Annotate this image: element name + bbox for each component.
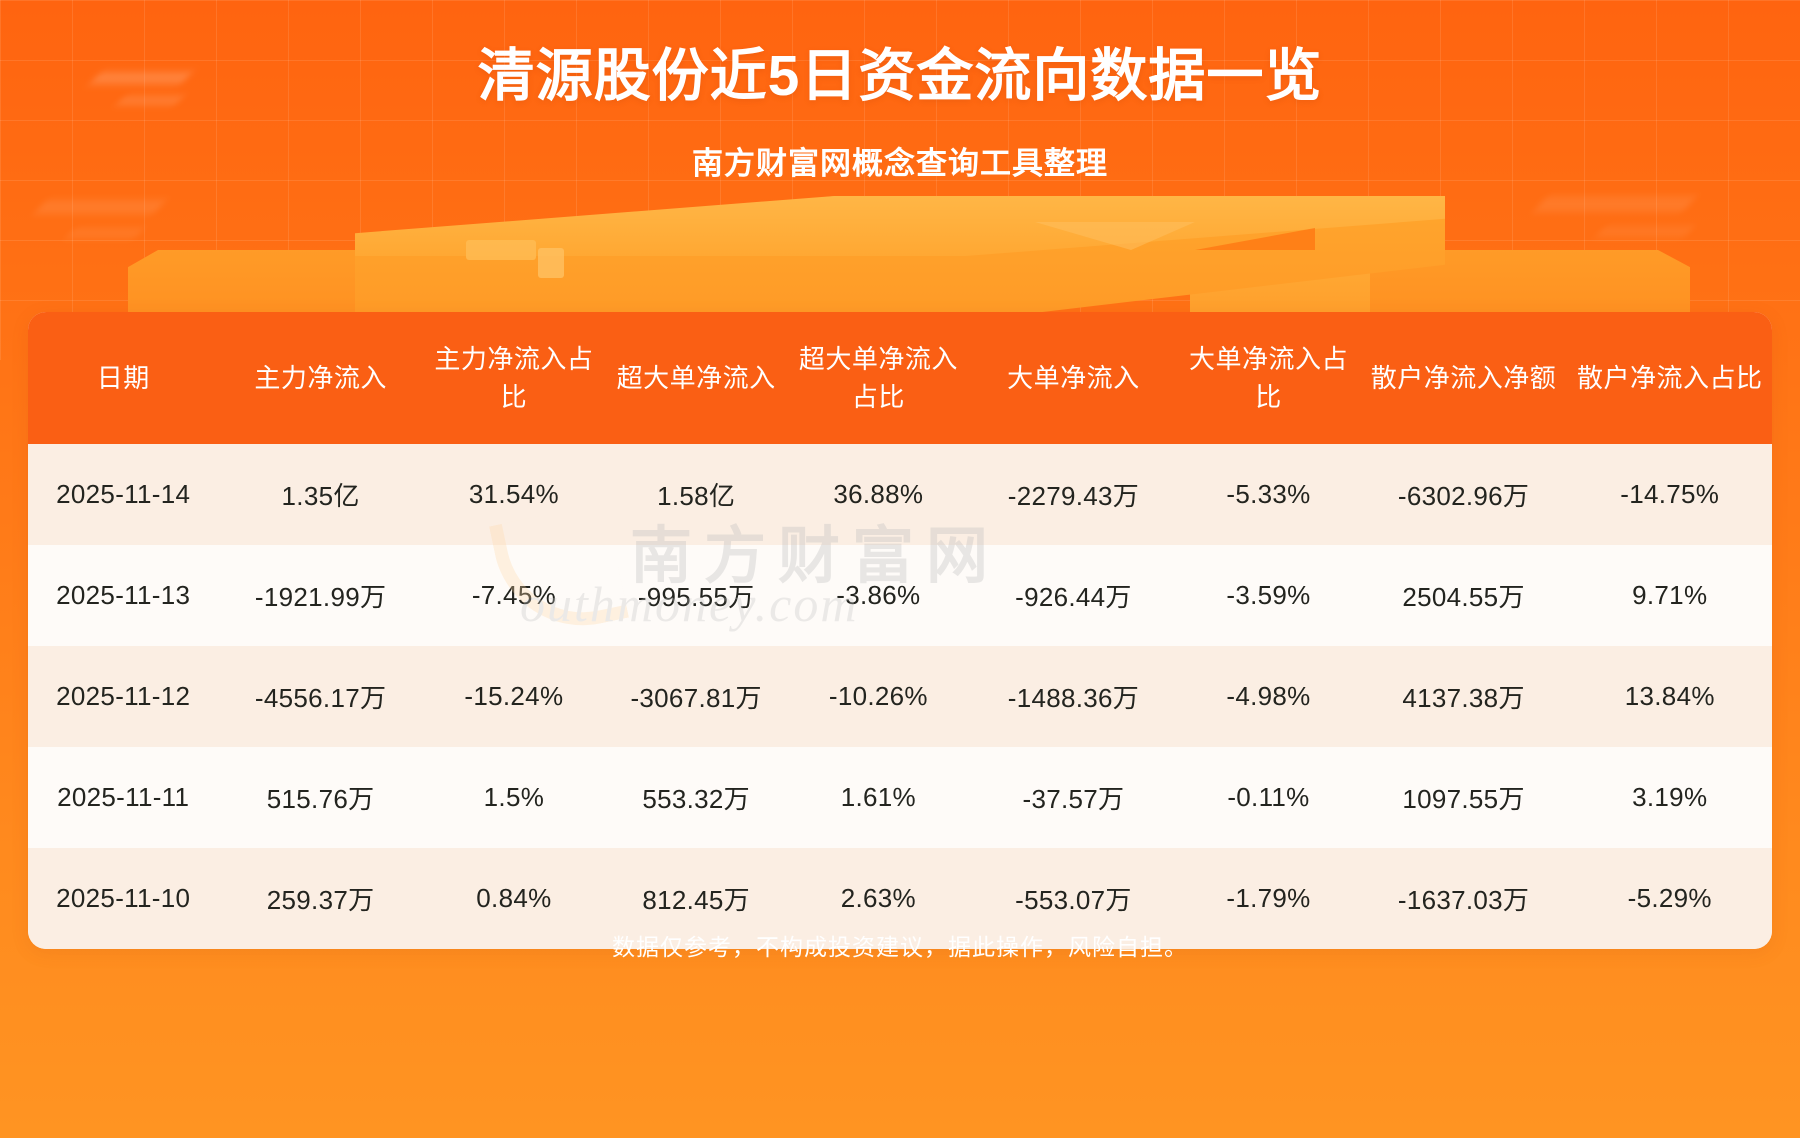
cell-retail-net: 1097.55万 (1360, 747, 1568, 848)
page-title: 清源股份近5日资金流向数据一览 (0, 40, 1800, 112)
table-row: 2025-11-14 1.35亿 31.54% 1.58亿 36.88% -22… (28, 444, 1772, 545)
cell-main-net: 1.35亿 (218, 444, 422, 545)
disclaimer-note: 数据仅参考，不构成投资建议，据此操作，风险自担。 (0, 928, 1800, 962)
decor-podium-notch (538, 248, 564, 278)
decor-light-streak (35, 200, 166, 214)
cell-xl-pct: -10.26% (787, 646, 969, 747)
page-root: 清源股份近5日资金流向数据一览 南方财富网概念查询工具整理 日期 主力净流入 主… (0, 0, 1800, 1138)
cell-main-pct: 31.54% (423, 444, 605, 545)
cell-lg-pct: -3.59% (1177, 545, 1359, 646)
page-subtitle: 南方财富网概念查询工具整理 (0, 142, 1800, 186)
decor-light-streak (66, 228, 144, 238)
cell-xl-pct: 1.61% (787, 747, 969, 848)
cell-lg-net: -37.57万 (969, 747, 1177, 848)
column-header-date: 日期 (28, 312, 218, 444)
table-body: 2025-11-14 1.35亿 31.54% 1.58亿 36.88% -22… (28, 444, 1772, 949)
column-header-xl-net: 超大单净流入 (605, 312, 787, 444)
decor-podium-edge (1195, 228, 1315, 250)
column-header-main-net: 主力净流入 (218, 312, 422, 444)
cell-xl-net: 553.32万 (605, 747, 787, 848)
cell-retail-pct: -14.75% (1568, 444, 1772, 545)
cell-main-pct: 1.5% (423, 747, 605, 848)
cell-main-net: -1921.99万 (218, 545, 422, 646)
cell-retail-pct: 9.71% (1568, 545, 1772, 646)
cell-lg-net: -2279.43万 (969, 444, 1177, 545)
cell-date: 2025-11-11 (28, 747, 218, 848)
cell-lg-pct: -5.33% (1177, 444, 1359, 545)
column-header-lg-pct: 大单净流入占比 (1177, 312, 1359, 444)
cell-lg-net: -1488.36万 (969, 646, 1177, 747)
cell-xl-pct: -3.86% (787, 545, 969, 646)
cell-retail-net: 2504.55万 (1360, 545, 1568, 646)
cell-retail-pct: 13.84% (1568, 646, 1772, 747)
decor-light-streak (1185, 228, 1325, 241)
decor-light-streak (1596, 226, 1695, 237)
cell-xl-net: 1.58亿 (605, 444, 787, 545)
cell-main-pct: -15.24% (423, 646, 605, 747)
cell-main-pct: -7.45% (423, 545, 605, 646)
cell-retail-net: -6302.96万 (1360, 444, 1568, 545)
cell-xl-net: -3067.81万 (605, 646, 787, 747)
cell-retail-pct: 3.19% (1568, 747, 1772, 848)
table-row: 2025-11-12 -4556.17万 -15.24% -3067.81万 -… (28, 646, 1772, 747)
column-header-lg-net: 大单净流入 (969, 312, 1177, 444)
decor-light-streak (1534, 196, 1697, 212)
table-row: 2025-11-11 515.76万 1.5% 553.32万 1.61% -3… (28, 747, 1772, 848)
column-header-main-pct: 主力净流入占比 (423, 312, 605, 444)
fund-flow-table-card: 日期 主力净流入 主力净流入占比 超大单净流入 超大单净流入占比 大单净流入 大… (28, 312, 1772, 949)
fund-flow-table: 日期 主力净流入 主力净流入占比 超大单净流入 超大单净流入占比 大单净流入 大… (28, 312, 1772, 949)
decor-podium-platform-top (355, 196, 1445, 256)
cell-main-net: -4556.17万 (218, 646, 422, 747)
table-header-row: 日期 主力净流入 主力净流入占比 超大单净流入 超大单净流入占比 大单净流入 大… (28, 312, 1772, 444)
cell-lg-pct: -0.11% (1177, 747, 1359, 848)
cell-main-net: 515.76万 (218, 747, 422, 848)
cell-date: 2025-11-13 (28, 545, 218, 646)
cell-xl-net: -995.55万 (605, 545, 787, 646)
cell-lg-pct: -4.98% (1177, 646, 1359, 747)
decor-podium-platform (355, 196, 1445, 321)
cell-lg-net: -926.44万 (969, 545, 1177, 646)
table-header: 日期 主力净流入 主力净流入占比 超大单净流入 超大单净流入占比 大单净流入 大… (28, 312, 1772, 444)
column-header-retail-pct: 散户净流入占比 (1568, 312, 1772, 444)
decor-podium-edge (1035, 222, 1195, 250)
cell-date: 2025-11-12 (28, 646, 218, 747)
column-header-retail-net: 散户净流入净额 (1360, 312, 1568, 444)
decor-podium-notch (466, 240, 536, 260)
cell-date: 2025-11-14 (28, 444, 218, 545)
cell-retail-net: 4137.38万 (1360, 646, 1568, 747)
column-header-xl-pct: 超大单净流入占比 (787, 312, 969, 444)
cell-xl-pct: 36.88% (787, 444, 969, 545)
table-row: 2025-11-13 -1921.99万 -7.45% -995.55万 -3.… (28, 545, 1772, 646)
